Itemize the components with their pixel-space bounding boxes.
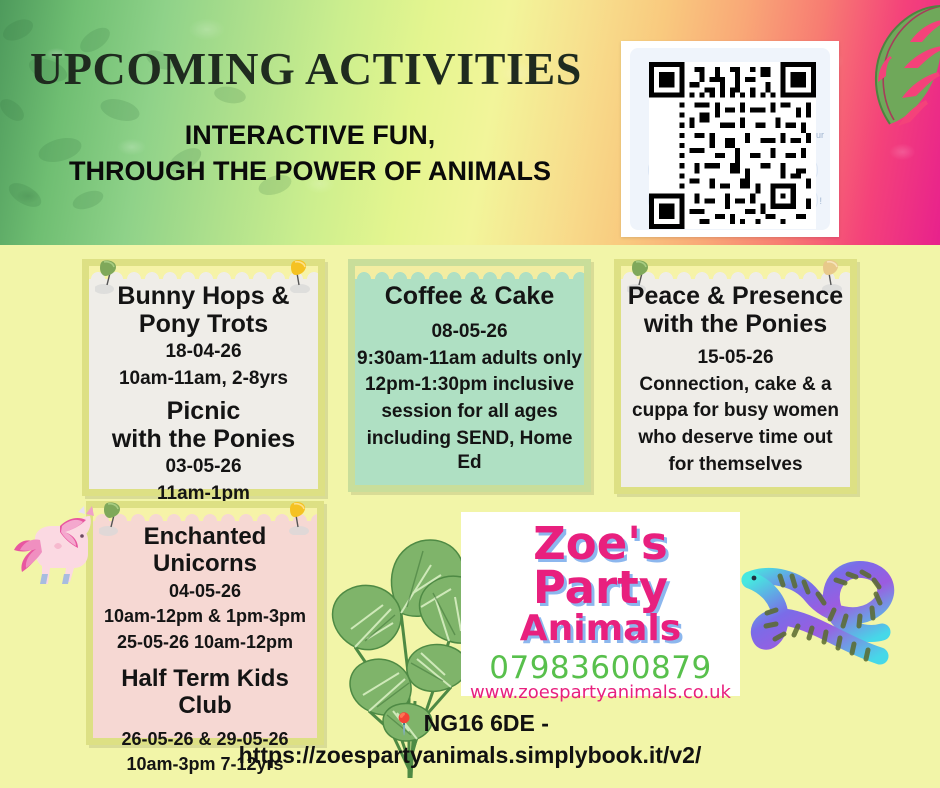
- subtitle-line-2: THROUGH THE POWER OF ANIMALS: [30, 154, 590, 190]
- card-detail-line: cuppa for busy women: [621, 399, 850, 424]
- location-pin-icon: 📍: [391, 713, 417, 736]
- card-heading: Peace & Presence with the Ponies: [621, 282, 850, 338]
- card-heading-secondary: Picnic with the Ponies: [89, 397, 318, 453]
- card-detail-line: 03-05-26: [89, 455, 318, 480]
- monstera-leaf-icon: [846, 0, 940, 134]
- activity-card-peace-and-presence[interactable]: Peace & Presence with the Ponies 15-05-2…: [614, 259, 857, 494]
- card-heading-line-2: Pony Trots: [139, 310, 268, 338]
- qr-code-panel: ur !: [630, 48, 830, 230]
- card-detail-line: 08-05-26: [355, 320, 584, 345]
- card-body: Bunny Hops & Pony Trots 18-04-26 10am-11…: [89, 266, 318, 507]
- qr-ghost-text-2: !: [819, 196, 822, 206]
- card-body: Coffee & Cake 08-05-26 9:30am-11am adult…: [355, 266, 584, 476]
- card-detail-line: 10am-11am, 2-8yrs: [89, 367, 318, 392]
- card-detail-line: 12pm-1:30pm inclusive: [355, 373, 584, 398]
- card-detail-line: 25-05-26 10am-12pm: [93, 631, 317, 654]
- card-detail-line: 18-04-26: [89, 340, 318, 365]
- card-detail-line: 9:30am-11am adults only: [355, 347, 584, 372]
- logo-line-animals: Animals: [461, 612, 740, 647]
- brand-logo-card[interactable]: Zoe's Party Animals 07983600879 www.zoes…: [461, 512, 740, 696]
- card-heading-line-1: Bunny Hops &: [117, 282, 289, 310]
- postcode-text: NG16 6DE -: [424, 710, 549, 736]
- snake-icon: [736, 556, 922, 676]
- card-detail-line: Connection, cake & a: [621, 373, 850, 398]
- card-heading: Enchanted Unicorns: [93, 524, 317, 578]
- card-heading2-line-2: with the Ponies: [112, 425, 295, 453]
- qr-ghost-text-1: ur: [816, 130, 824, 140]
- qr-code-icon[interactable]: [649, 62, 816, 229]
- website-url[interactable]: www.zoespartyanimals.co.uk: [461, 682, 740, 703]
- activity-card-bunny-hops[interactable]: Bunny Hops & Pony Trots 18-04-26 10am-11…: [82, 259, 325, 496]
- card-heading2-line-1: Picnic: [167, 397, 241, 425]
- footer-location-line: 📍 NG16 6DE -: [0, 708, 940, 740]
- card-detail-line: session for all ages: [355, 400, 584, 425]
- card-heading-line-2: with the Ponies: [644, 310, 827, 338]
- logo-line-party: Party: [461, 566, 740, 609]
- qr-code-card[interactable]: ur !: [621, 41, 839, 237]
- card-detail-line: including SEND, Home Ed: [355, 427, 584, 476]
- card-heading: Bunny Hops & Pony Trots: [89, 282, 318, 338]
- activity-card-coffee-and-cake[interactable]: Coffee & Cake 08-05-26 9:30am-11am adult…: [348, 259, 591, 492]
- page-title: UPCOMING ACTIVITIES: [30, 42, 582, 95]
- subtitle-line-1: INTERACTIVE FUN,: [30, 118, 590, 154]
- card-detail-line: 04-05-26: [93, 580, 317, 603]
- activities-poster: UPCOMING ACTIVITIES INTERACTIVE FUN, THR…: [0, 0, 940, 788]
- card-detail-line: 10am-12pm & 1pm-3pm: [93, 605, 317, 628]
- phone-number[interactable]: 07983600879: [461, 650, 740, 686]
- card-body: Peace & Presence with the Ponies 15-05-2…: [621, 266, 850, 477]
- footer-contact: 📍 NG16 6DE - https://zoespartyanimals.si…: [0, 708, 940, 772]
- card-heading-line-1: Peace & Presence: [628, 282, 843, 310]
- card-detail-line: for themselves: [621, 453, 850, 478]
- booking-link[interactable]: https://zoespartyanimals.simplybook.it/v…: [0, 740, 940, 772]
- card-heading: Coffee & Cake: [355, 282, 584, 310]
- page-subtitle: INTERACTIVE FUN, THROUGH THE POWER OF AN…: [30, 118, 590, 190]
- card-detail-line: who deserve time out: [621, 426, 850, 451]
- logo-line-zoes: Zoe's: [461, 522, 740, 565]
- card-detail-line: 15-05-26: [621, 346, 850, 371]
